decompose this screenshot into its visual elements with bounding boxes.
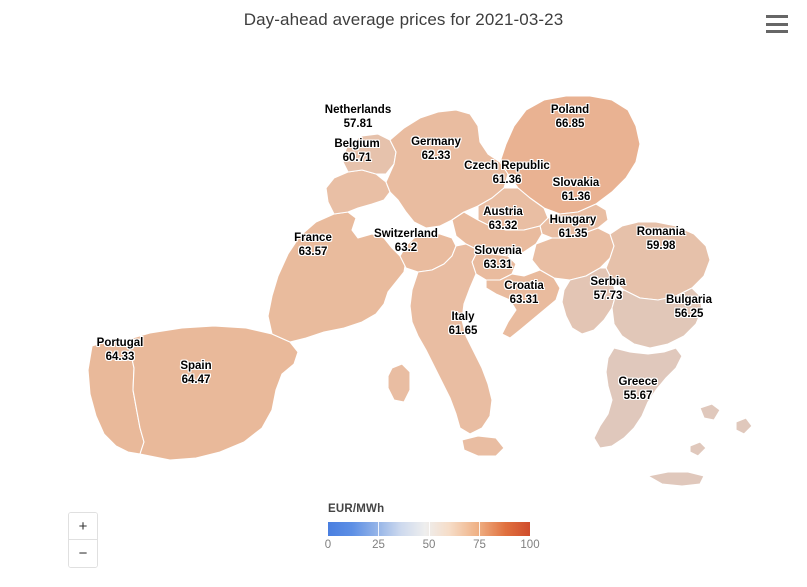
region-greece-island-3[interactable] [690, 442, 706, 456]
legend-tick-labels: 0255075100 [328, 539, 533, 557]
legend-tickmark-75 [479, 522, 480, 536]
menu-bar-2 [766, 23, 788, 26]
color-legend: EUR/MWh 0255075100 [328, 503, 533, 557]
region-romania[interactable] [606, 222, 710, 300]
legend-title: EUR/MWh [328, 503, 533, 515]
day-ahead-price-map-widget: Day-ahead average prices for 2021-03-23 [0, 0, 807, 587]
region-italy-sardinia[interactable] [388, 364, 410, 402]
legend-tick: 25 [372, 539, 385, 551]
legend-tick: 100 [520, 539, 539, 551]
zoom-in-button[interactable]: + [69, 513, 97, 540]
legend-gradient-bar [328, 522, 530, 536]
legend-tickmark-50 [429, 522, 430, 536]
region-croatia[interactable] [486, 270, 560, 338]
legend-tickmark-25 [378, 522, 379, 536]
region-netherlands[interactable] [342, 134, 396, 174]
hamburger-menu-icon[interactable] [766, 14, 790, 34]
menu-bar-1 [766, 15, 788, 18]
region-greece-island-1[interactable] [700, 404, 720, 420]
choropleth-map[interactable]: Netherlands57.81Belgium60.71Germany62.33… [0, 38, 807, 493]
region-italy-sicily[interactable] [462, 436, 504, 456]
country-shapes-group [88, 96, 752, 486]
region-france[interactable] [268, 212, 406, 342]
page-title: Day-ahead average prices for 2021-03-23 [0, 10, 807, 30]
legend-tick: 0 [325, 539, 331, 551]
map-svg [0, 38, 807, 493]
zoom-out-button[interactable]: − [69, 540, 97, 567]
region-belgium[interactable] [326, 170, 390, 214]
legend-tick: 75 [473, 539, 486, 551]
region-spain[interactable] [122, 326, 298, 460]
legend-tick: 50 [423, 539, 436, 551]
map-zoom-controls[interactable]: + − [68, 512, 98, 568]
region-greece-island-2[interactable] [736, 418, 752, 434]
menu-bar-3 [766, 30, 788, 33]
region-greece[interactable] [594, 348, 682, 448]
region-greece-island-crete[interactable] [648, 472, 704, 486]
